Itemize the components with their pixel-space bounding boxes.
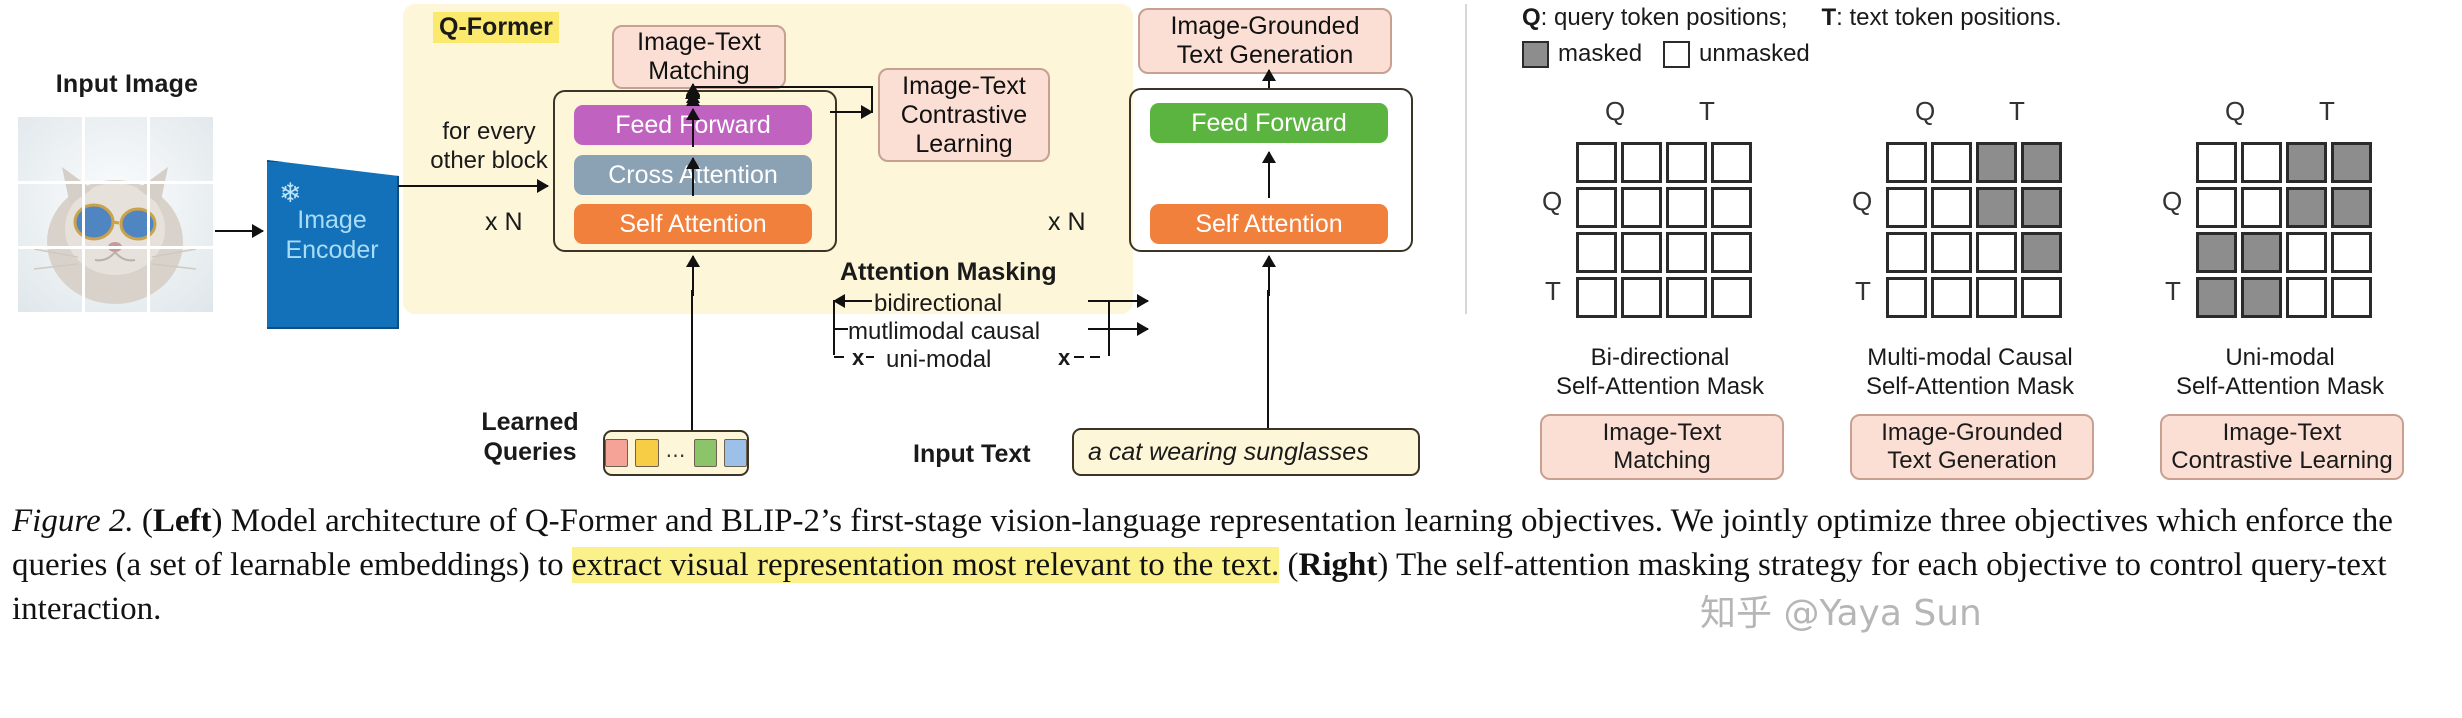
arrow-selfattn-to-crossattn-left (692, 158, 694, 196)
mask2-row-head-t: T (2165, 276, 2181, 307)
arrow-bidirectional-left (834, 300, 872, 302)
mask2-cell-r2-c1 (2241, 232, 2282, 273)
input-image-thumbnail (18, 117, 213, 312)
unimodal-x-left-icon: x (852, 345, 864, 371)
mask1-cell-r3-c3 (2021, 277, 2062, 318)
watermark: 知乎 @Yaya Sun (1700, 584, 1982, 636)
caption-right-tag: Right (1299, 547, 1378, 583)
mask0-cell-r1-c1 (1621, 187, 1662, 228)
query-chip-3 (694, 439, 717, 467)
mask0-cell-r2-c0 (1576, 232, 1617, 273)
mask1-cell-r1-c3 (2021, 187, 2062, 228)
mask2-row-head-q: Q (2162, 186, 2182, 217)
input-text-box: a cat wearing sunglasses (1072, 428, 1420, 476)
frozen-snowflake-icon: ❄ (279, 180, 302, 207)
legend-q-symbol: Q (1522, 4, 1541, 31)
mask0-cell-r1-c0 (1576, 187, 1617, 228)
panel-divider (1465, 4, 1467, 314)
caption-highlight: extract visual representation most relev… (572, 547, 1279, 583)
mask0-cell-r2-c1 (1621, 232, 1662, 273)
legend-masked-label: masked (1558, 40, 1642, 68)
mask2-col-head-t: T (2319, 96, 2335, 127)
mask0-cell-r1-c3 (1711, 187, 1752, 228)
mask1-cell-r0-c2 (1976, 142, 2017, 183)
unimodal-x-right-icon: x (1058, 345, 1070, 371)
caption-left-tag: Left (153, 503, 212, 539)
image-encoder-block: ❄ Image Encoder (265, 160, 399, 329)
mask2-cell-r3-c0 (2196, 277, 2237, 318)
arrow-branch-to-itc (830, 111, 872, 113)
mask1-cell-r1-c0 (1886, 187, 1927, 228)
legend-unmasked-label: unmasked (1699, 40, 1810, 68)
mask1-col-head-q: Q (1915, 96, 1935, 127)
mask0-cell-r0-c2 (1666, 142, 1707, 183)
mask2-caption: Uni-modalSelf-Attention Mask (2120, 344, 2440, 402)
mask2-cell-r3-c3 (2331, 277, 2372, 318)
mask0-matrix (1574, 140, 1754, 320)
x-n-right-label: x N (1048, 208, 1086, 237)
mask1-cell-r0-c0 (1886, 142, 1927, 183)
mask2-cell-r0-c3 (2331, 142, 2372, 183)
mask0-objective: Image-TextMatching (1540, 414, 1784, 480)
line-unimodal-dash-right (1074, 356, 1084, 358)
input-text-label: Input Text (913, 440, 1031, 469)
attention-masking-multimodal-causal-label: mutlimodal causal (848, 318, 1040, 346)
mask0-cell-r3-c3 (1711, 277, 1752, 318)
legend-mask-swatches: masked unmasked (1522, 40, 1810, 68)
figure-area: Input Image (0, 0, 2462, 500)
mask0-cell-r0-c1 (1621, 142, 1662, 183)
mask1-cell-r2-c0 (1886, 232, 1927, 273)
line-itc-vert (871, 86, 873, 113)
arrow-itm-clean (692, 86, 694, 90)
mask2-cell-r0-c0 (2196, 142, 2237, 183)
mask2-matrix (2194, 140, 2374, 320)
attention-masking-bidirectional-label: bidirectional (874, 290, 1002, 318)
objective-image-grounded-text-generation: Image-GroundedText Generation (1138, 8, 1392, 74)
mask2-cell-r3-c1 (2241, 277, 2282, 318)
line-unimodal-vert-right (1108, 300, 1110, 356)
masked-swatch-icon (1522, 41, 1549, 68)
x-n-left-label: x N (485, 208, 523, 237)
line-branch-to-itc (691, 86, 873, 88)
mask0-cell-r3-c1 (1621, 277, 1662, 318)
query-chip-4 (724, 439, 747, 467)
mask1-col-head-t: T (2009, 96, 2025, 127)
caption-part3: ( (1279, 547, 1298, 583)
mask2-cell-r0-c2 (2286, 142, 2327, 183)
mask1-cell-r2-c3 (2021, 232, 2062, 273)
line-unimodal-dash-right2 (1090, 356, 1100, 358)
for-every-other-block-label: for everyother block (424, 118, 554, 176)
caption-figure-label: Figure 2. (12, 503, 134, 539)
learned-queries-box: ⋯ (603, 430, 749, 476)
mask1-objective: Image-GroundedText Generation (1850, 414, 2094, 480)
mask0-cell-r2-c3 (1711, 232, 1752, 273)
line-unimodal-dash-left2 (866, 356, 874, 358)
mask0-col-head-q: Q (1605, 96, 1625, 127)
attention-masking-title: Attention Masking (840, 258, 1057, 287)
figure-caption: Figure 2. (Left) Model architecture of Q… (12, 500, 2452, 632)
legend-t-text: : text token positions. (1836, 4, 2061, 31)
self-attention-right-block: Self Attention (1150, 204, 1388, 244)
feed-forward-right-block: Feed Forward (1150, 103, 1388, 143)
mask1-cell-r2-c2 (1976, 232, 2017, 273)
line-input-text-up (1267, 290, 1269, 428)
arrow-crossattn-to-ff-left (692, 109, 694, 147)
input-image-label: Input Image (22, 70, 232, 99)
mask0-cell-r3-c2 (1666, 277, 1707, 318)
arrow-selfattn-to-ff-right (1268, 152, 1270, 198)
mask2-cell-r2-c0 (2196, 232, 2237, 273)
mask2-cell-r3-c2 (2286, 277, 2327, 318)
attention-masking-unimodal-label: uni-modal (886, 346, 991, 374)
mask1-cell-r3-c0 (1886, 277, 1927, 318)
unmasked-swatch-icon (1663, 41, 1690, 68)
arrow-image-to-encoder (215, 230, 263, 232)
query-chip-2 (635, 439, 658, 467)
mask1-cell-r1-c2 (1976, 187, 2017, 228)
mask0-cell-r3-c0 (1576, 277, 1617, 318)
mask2-cell-r1-c0 (2196, 187, 2237, 228)
mask2-cell-r0-c1 (2241, 142, 2282, 183)
arrow-multimodal-right (1088, 328, 1148, 330)
legend-token-positions: Q: query token positions;T: text token p… (1522, 4, 2062, 32)
line-multimodal-left (834, 328, 848, 330)
line-queries-up (691, 290, 693, 430)
mask1-row-head-t: T (1855, 276, 1871, 307)
mask1-matrix (1884, 140, 2064, 320)
mask0-cell-r2-c2 (1666, 232, 1707, 273)
mask2-cell-r1-c2 (2286, 187, 2327, 228)
mask0-caption: Bi-directionalSelf-Attention Mask (1500, 344, 1820, 402)
qformer-title: Q-Former (433, 12, 559, 43)
arrow-encoder-to-cross-attention (398, 185, 548, 187)
legend-t-symbol: T (1821, 4, 1836, 31)
mask2-cell-r2-c2 (2286, 232, 2327, 273)
mask0-col-head-t: T (1699, 96, 1715, 127)
arrow-bidirectional-right (1088, 300, 1148, 302)
mask0-row-head-q: Q (1542, 186, 1562, 217)
mask0-cell-r1-c2 (1666, 187, 1707, 228)
objective-image-text-contrastive-learning: Image-TextContrastiveLearning (878, 68, 1050, 162)
mask2-cell-r1-c1 (2241, 187, 2282, 228)
arrow-rightblock-to-igtg (1268, 70, 1270, 88)
mask1-cell-r0-c3 (2021, 142, 2062, 183)
mask2-cell-r2-c3 (2331, 232, 2372, 273)
mask0-cell-r0-c3 (1711, 142, 1752, 183)
caption-part1: ( (134, 503, 153, 539)
patch-grid-overlay (18, 117, 213, 312)
learned-queries-label: LearnedQueries (460, 408, 600, 467)
mask0-cell-r0-c0 (1576, 142, 1617, 183)
line-unimodal-dash-left (834, 356, 844, 358)
mask2-col-head-q: Q (2225, 96, 2245, 127)
query-chip-1 (605, 439, 628, 467)
objective-image-text-matching: Image-TextMatching (612, 25, 786, 89)
mask1-cell-r2-c1 (1931, 232, 1972, 273)
mask1-row-head-q: Q (1852, 186, 1872, 217)
self-attention-left-block: Self Attention (574, 204, 812, 244)
mask2-cell-r1-c3 (2331, 187, 2372, 228)
figure-page: Input Image (0, 0, 2462, 718)
mask1-caption: Multi-modal CausalSelf-Attention Mask (1810, 344, 2130, 402)
legend-q-text: : query token positions; (1541, 4, 1788, 31)
mask1-cell-r1-c1 (1931, 187, 1972, 228)
mask0-row-head-t: T (1545, 276, 1561, 307)
mask1-cell-r0-c1 (1931, 142, 1972, 183)
line-multimodal-vert-left (833, 300, 835, 355)
mask1-cell-r3-c1 (1931, 277, 1972, 318)
mask2-objective: Image-TextContrastive Learning (2160, 414, 2404, 480)
mask1-cell-r3-c2 (1976, 277, 2017, 318)
image-encoder-label: Image Encoder (267, 206, 397, 265)
